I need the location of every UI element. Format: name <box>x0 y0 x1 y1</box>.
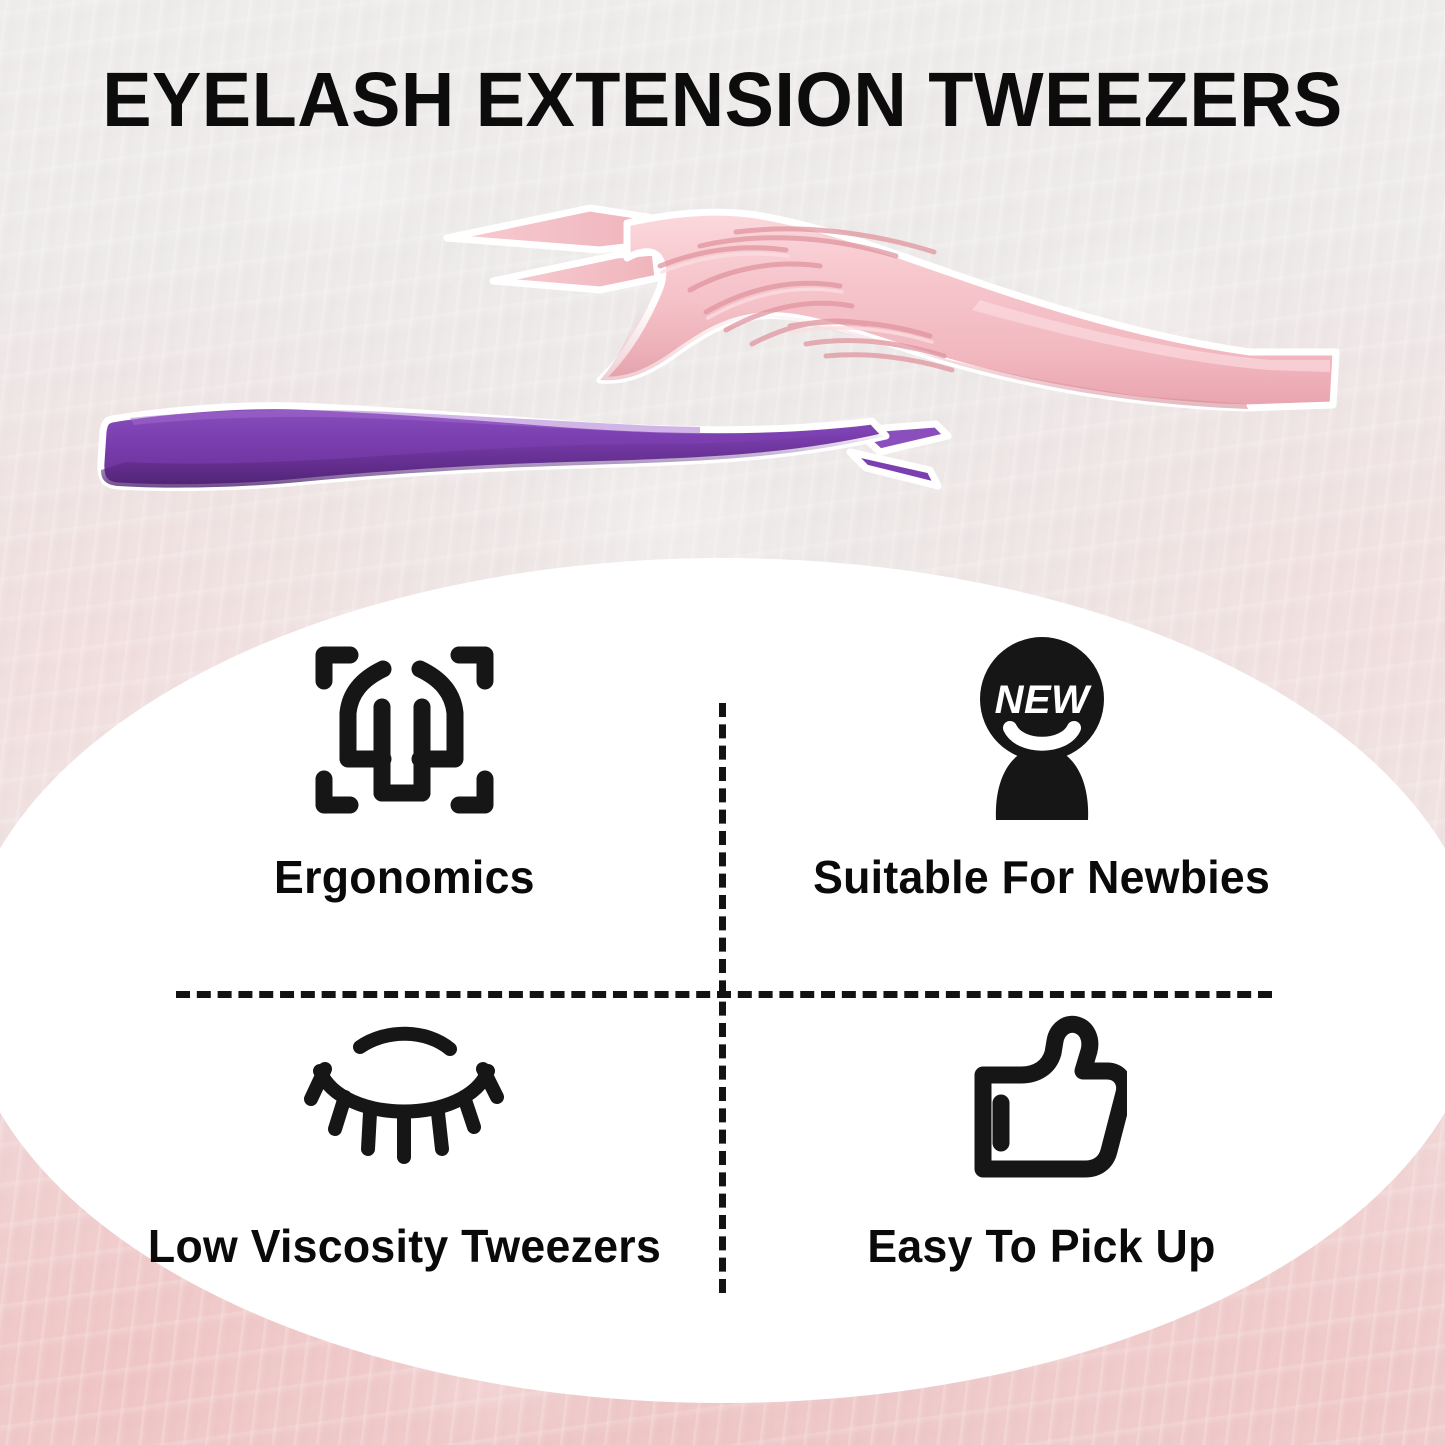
new-person-badge-icon: NEW <box>966 635 1118 830</box>
product-infographic-poster: EYELASH EXTENSION TWEEZERS <box>0 0 1445 1445</box>
tweezers-in-frame-icon <box>312 641 497 824</box>
feature-label-suitable-for-newbies: Suitable For Newbies <box>813 854 1270 900</box>
closed-eye-lashes-icon <box>298 1017 510 1182</box>
feature-cell-suitable-for-newbies: NEW Suitable For Newbies <box>722 632 1362 962</box>
feature-grid: Ergonomics NEW Suitab <box>0 612 1445 1342</box>
feature-label-ergonomics: Ergonomics <box>274 854 535 900</box>
icon-container-newbies: NEW <box>966 632 1118 832</box>
icon-container-easy-to-pick-up <box>957 1002 1127 1197</box>
feature-label-easy-to-pick-up: Easy To Pick Up <box>868 1223 1216 1269</box>
icon-container-ergonomics <box>312 632 497 832</box>
feature-cell-low-viscosity: Low Viscosity Tweezers <box>84 1002 724 1332</box>
feature-label-low-viscosity: Low Viscosity Tweezers <box>147 1223 660 1269</box>
page-title: EYELASH EXTENSION TWEEZERS <box>29 62 1416 139</box>
thumbs-up-icon <box>957 1013 1127 1186</box>
new-badge-text: NEW <box>995 678 1093 722</box>
icon-container-low-viscosity <box>298 1002 510 1197</box>
feature-cell-ergonomics: Ergonomics <box>84 632 724 962</box>
feature-cell-easy-to-pick-up: Easy To Pick Up <box>722 1002 1362 1332</box>
